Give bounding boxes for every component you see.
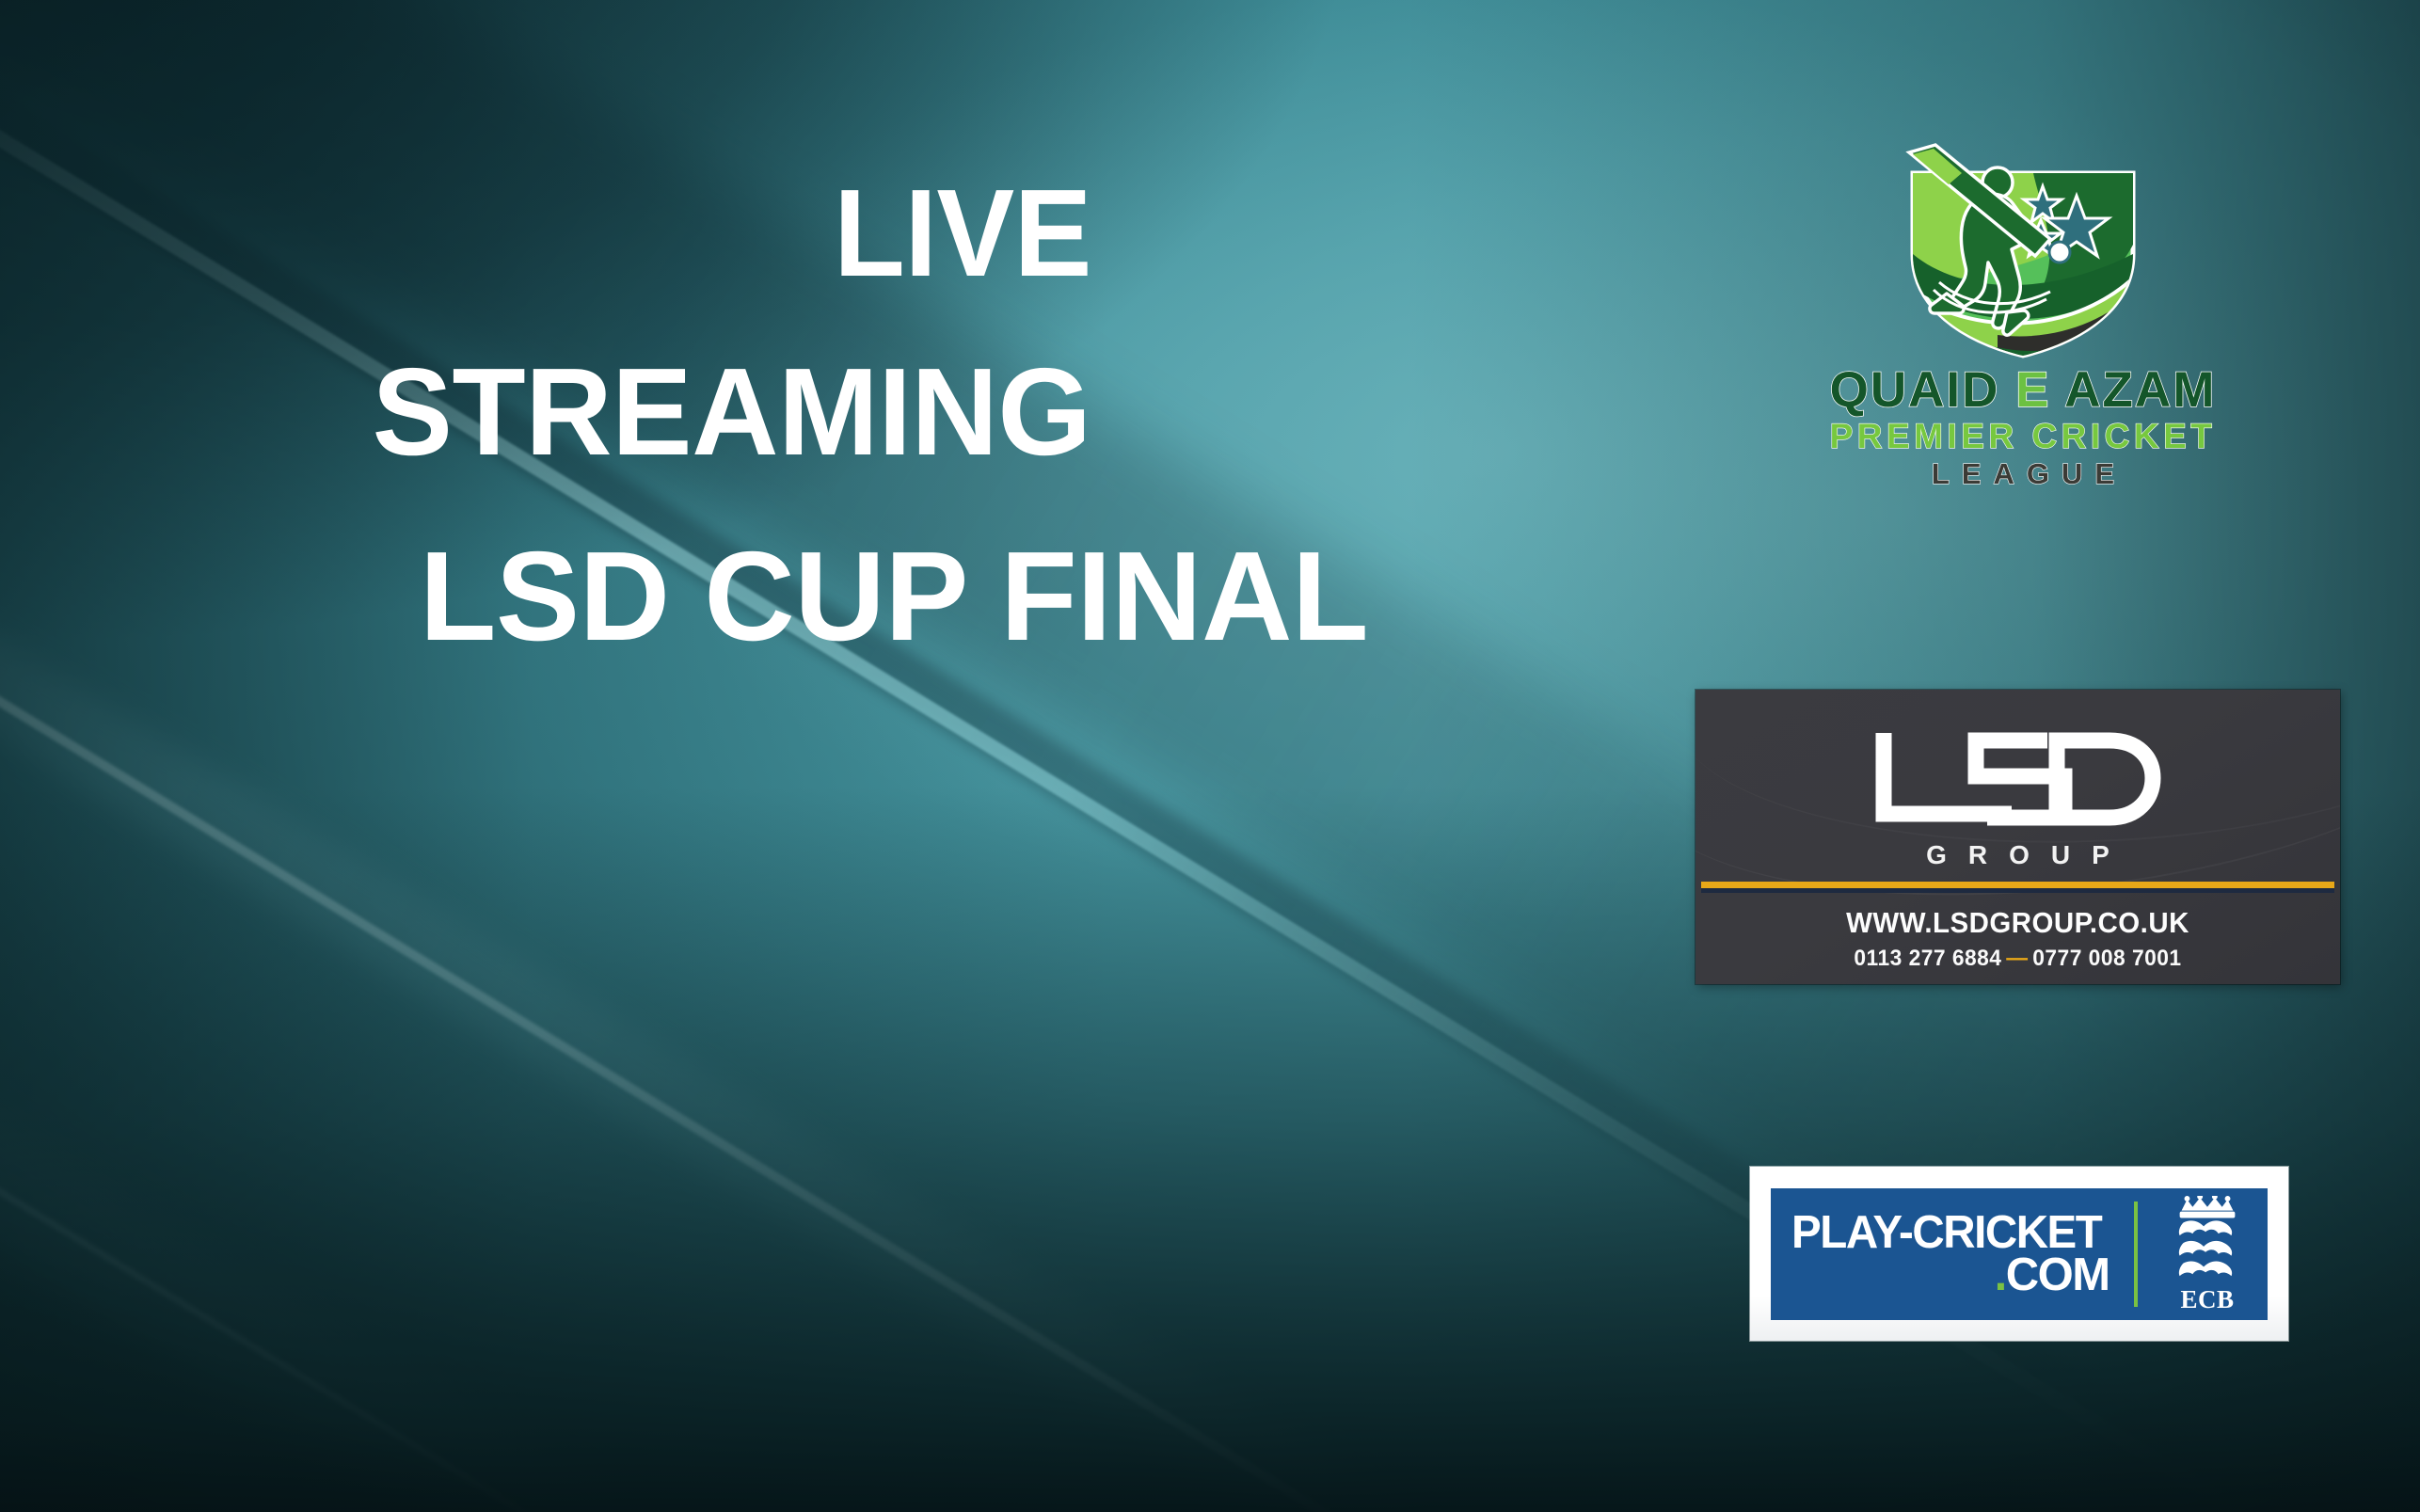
lsd-accent-rule bbox=[1701, 882, 2334, 888]
play-cricket-panel: PLAY-CRICKET .COM bbox=[1771, 1188, 2268, 1320]
play-cricket-divider bbox=[2134, 1202, 2138, 1307]
ecb-label: ECB bbox=[2180, 1285, 2234, 1314]
league-title-part1: QUAID bbox=[1830, 362, 2000, 418]
headline-line-event: LSD CUP FINAL bbox=[9, 533, 1779, 660]
play-cricket-wordmark: PLAY-CRICKET .COM bbox=[1771, 1212, 2111, 1297]
sponsor-banner-play-cricket[interactable]: PLAY-CRICKET .COM bbox=[1750, 1167, 2288, 1341]
promo-graphic: LIVE STREAMING LSD CUP FINAL bbox=[0, 0, 2420, 1512]
headline-line-live: LIVE bbox=[66, 171, 1091, 295]
lsd-phone-1: 0113 277 6884 bbox=[1854, 946, 2001, 971]
lsd-phone-numbers: 0113 277 6884—0777 008 7001 bbox=[1712, 946, 2324, 972]
league-logo: QUAID E AZAM PREMIER CRICKET LEAGUE bbox=[1811, 141, 2235, 489]
lsd-phone-2: 0777 008 7001 bbox=[2032, 946, 2181, 971]
league-logo-subtitle: PREMIER CRICKET bbox=[1811, 419, 2235, 454]
league-title-part2: E bbox=[2015, 362, 2050, 418]
lsd-website-url[interactable]: WWW.LSDGROUP.CO.UK bbox=[1712, 906, 2324, 940]
lsd-group-word: GROUP bbox=[1696, 840, 2340, 870]
lsd-logomark-icon bbox=[1696, 727, 2340, 836]
play-cricket-line-1: PLAY-CRICKET bbox=[1791, 1212, 2101, 1254]
lsd-phone-separator: — bbox=[2001, 946, 2032, 971]
ecb-crest-icon: ECB bbox=[2158, 1196, 2256, 1314]
play-cricket-line-2: .COM bbox=[1791, 1254, 2111, 1297]
league-title-part3: AZAM bbox=[2064, 362, 2216, 418]
league-logo-title: QUAID E AZAM bbox=[1811, 365, 2235, 415]
headline-line-streaming: STREAMING bbox=[22, 350, 1441, 474]
sponsor-banner-lsd-group[interactable]: GROUP WWW.LSDGROUP.CO.UK 0113 277 6884—0… bbox=[1696, 690, 2340, 984]
cricket-shield-icon bbox=[1892, 141, 2154, 359]
league-logo-tagline: LEAGUE bbox=[1811, 459, 2235, 488]
